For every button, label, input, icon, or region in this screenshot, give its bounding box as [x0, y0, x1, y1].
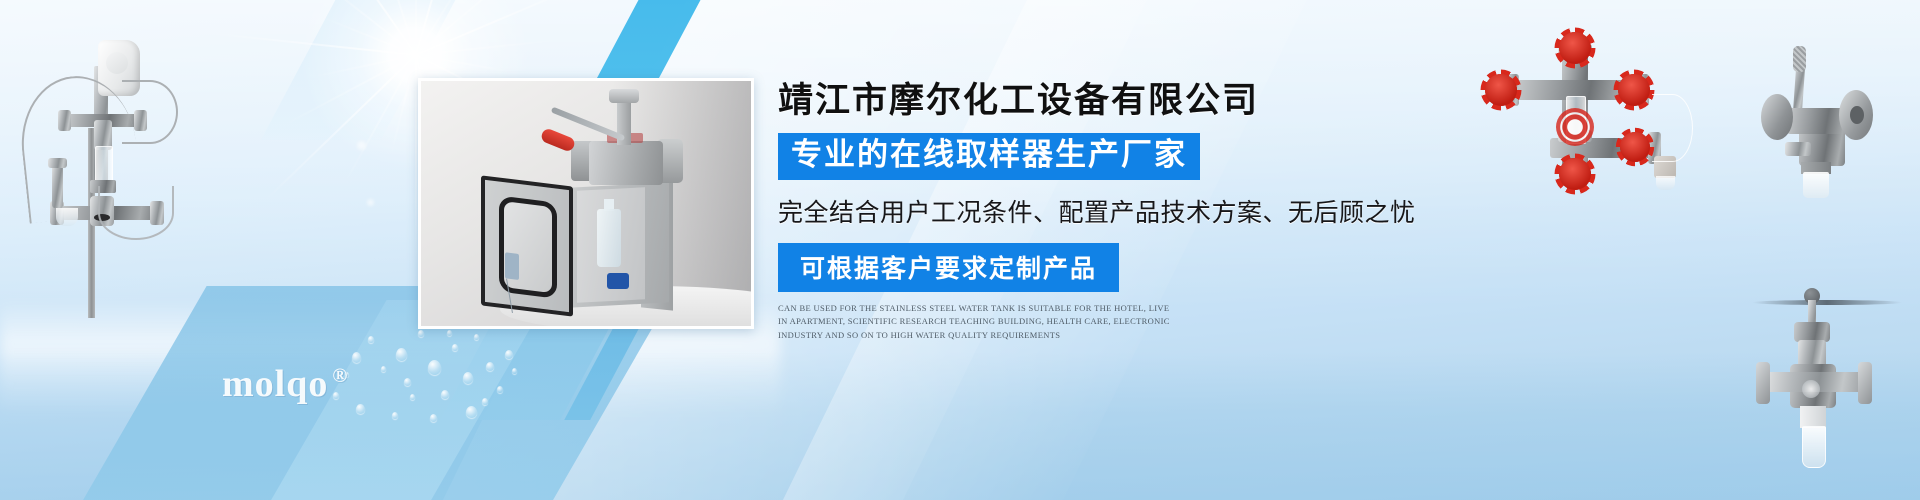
water-droplet	[404, 378, 411, 386]
water-droplet	[486, 362, 494, 371]
product-photo	[418, 78, 754, 329]
shadow-line	[1752, 300, 1902, 305]
water-droplet	[428, 360, 441, 375]
red-handwheel	[1620, 132, 1650, 162]
water-droplet	[418, 330, 424, 337]
flange-right	[1858, 362, 1872, 404]
text-content: 靖江市摩尔化工设备有限公司 专业的在线取样器生产厂家 完全结合用户工况条件、配置…	[778, 72, 1418, 343]
brand-stamp	[1802, 380, 1820, 398]
sub-headline: 完全结合用户工况条件、配置产品技术方案、无后顾之忧	[778, 193, 1418, 229]
red-handwheel	[1559, 32, 1591, 64]
water-droplet	[474, 334, 479, 340]
sample-vial	[1803, 172, 1829, 198]
red-handwheel	[1618, 74, 1650, 106]
lens-flare-dot	[357, 141, 366, 150]
promotional-banner: 靖江市摩尔化工设备有限公司 专业的在线取样器生产厂家 完全结合用户工况条件、配置…	[0, 0, 1920, 500]
water-droplet	[482, 398, 488, 405]
water-droplet	[392, 412, 398, 419]
water-droplet	[410, 394, 415, 400]
sample-bottle	[597, 209, 621, 267]
sun-ray	[415, 55, 417, 265]
english-description: CAN BE USED FOR THE STAINLESS STEEL WATE…	[778, 302, 1180, 343]
water-droplet	[466, 406, 477, 418]
water-droplet	[463, 372, 473, 384]
valve-knob	[609, 89, 639, 103]
headline-badge: 专业的在线取样器生产厂家	[778, 133, 1200, 180]
water-droplet	[352, 352, 361, 363]
water-droplet	[452, 344, 458, 351]
flange-left	[1756, 362, 1770, 404]
red-handwheel	[1485, 74, 1517, 106]
water-droplet	[497, 386, 503, 393]
water-droplet	[512, 368, 517, 374]
watermark-logo: molqo®	[222, 362, 348, 406]
sample-vial	[1802, 426, 1826, 468]
sampler-valve-body	[589, 141, 663, 185]
flange-left	[1761, 94, 1793, 140]
water-droplet	[430, 414, 437, 422]
tagline-badge: 可根据客户要求定制产品	[778, 243, 1119, 292]
equipment-pole-sampler	[10, 28, 180, 318]
water-droplet	[447, 330, 452, 336]
registered-mark-icon: ®	[332, 365, 348, 387]
water-droplet	[368, 336, 374, 343]
red-handwheel	[1559, 158, 1591, 190]
valve-lever-grip	[540, 127, 577, 153]
company-name: 靖江市摩尔化工设备有限公司	[778, 72, 1418, 123]
water-droplet	[381, 366, 386, 372]
water-droplet	[356, 404, 365, 414]
equipment-cross-manifold	[1478, 34, 1748, 194]
blue-cap	[607, 273, 629, 289]
water-droplet	[396, 348, 407, 361]
door-lock-icon	[505, 252, 519, 280]
equipment-lever-valve	[1755, 30, 1915, 220]
water-droplet	[441, 390, 449, 399]
water-droplet	[505, 350, 513, 359]
company-seal-badge	[1556, 108, 1594, 146]
watermark-text: molqo	[222, 363, 328, 405]
cabinet-door	[481, 175, 573, 316]
equipment-needle-valve	[1752, 282, 1912, 472]
lens-flare-dot	[367, 199, 374, 206]
